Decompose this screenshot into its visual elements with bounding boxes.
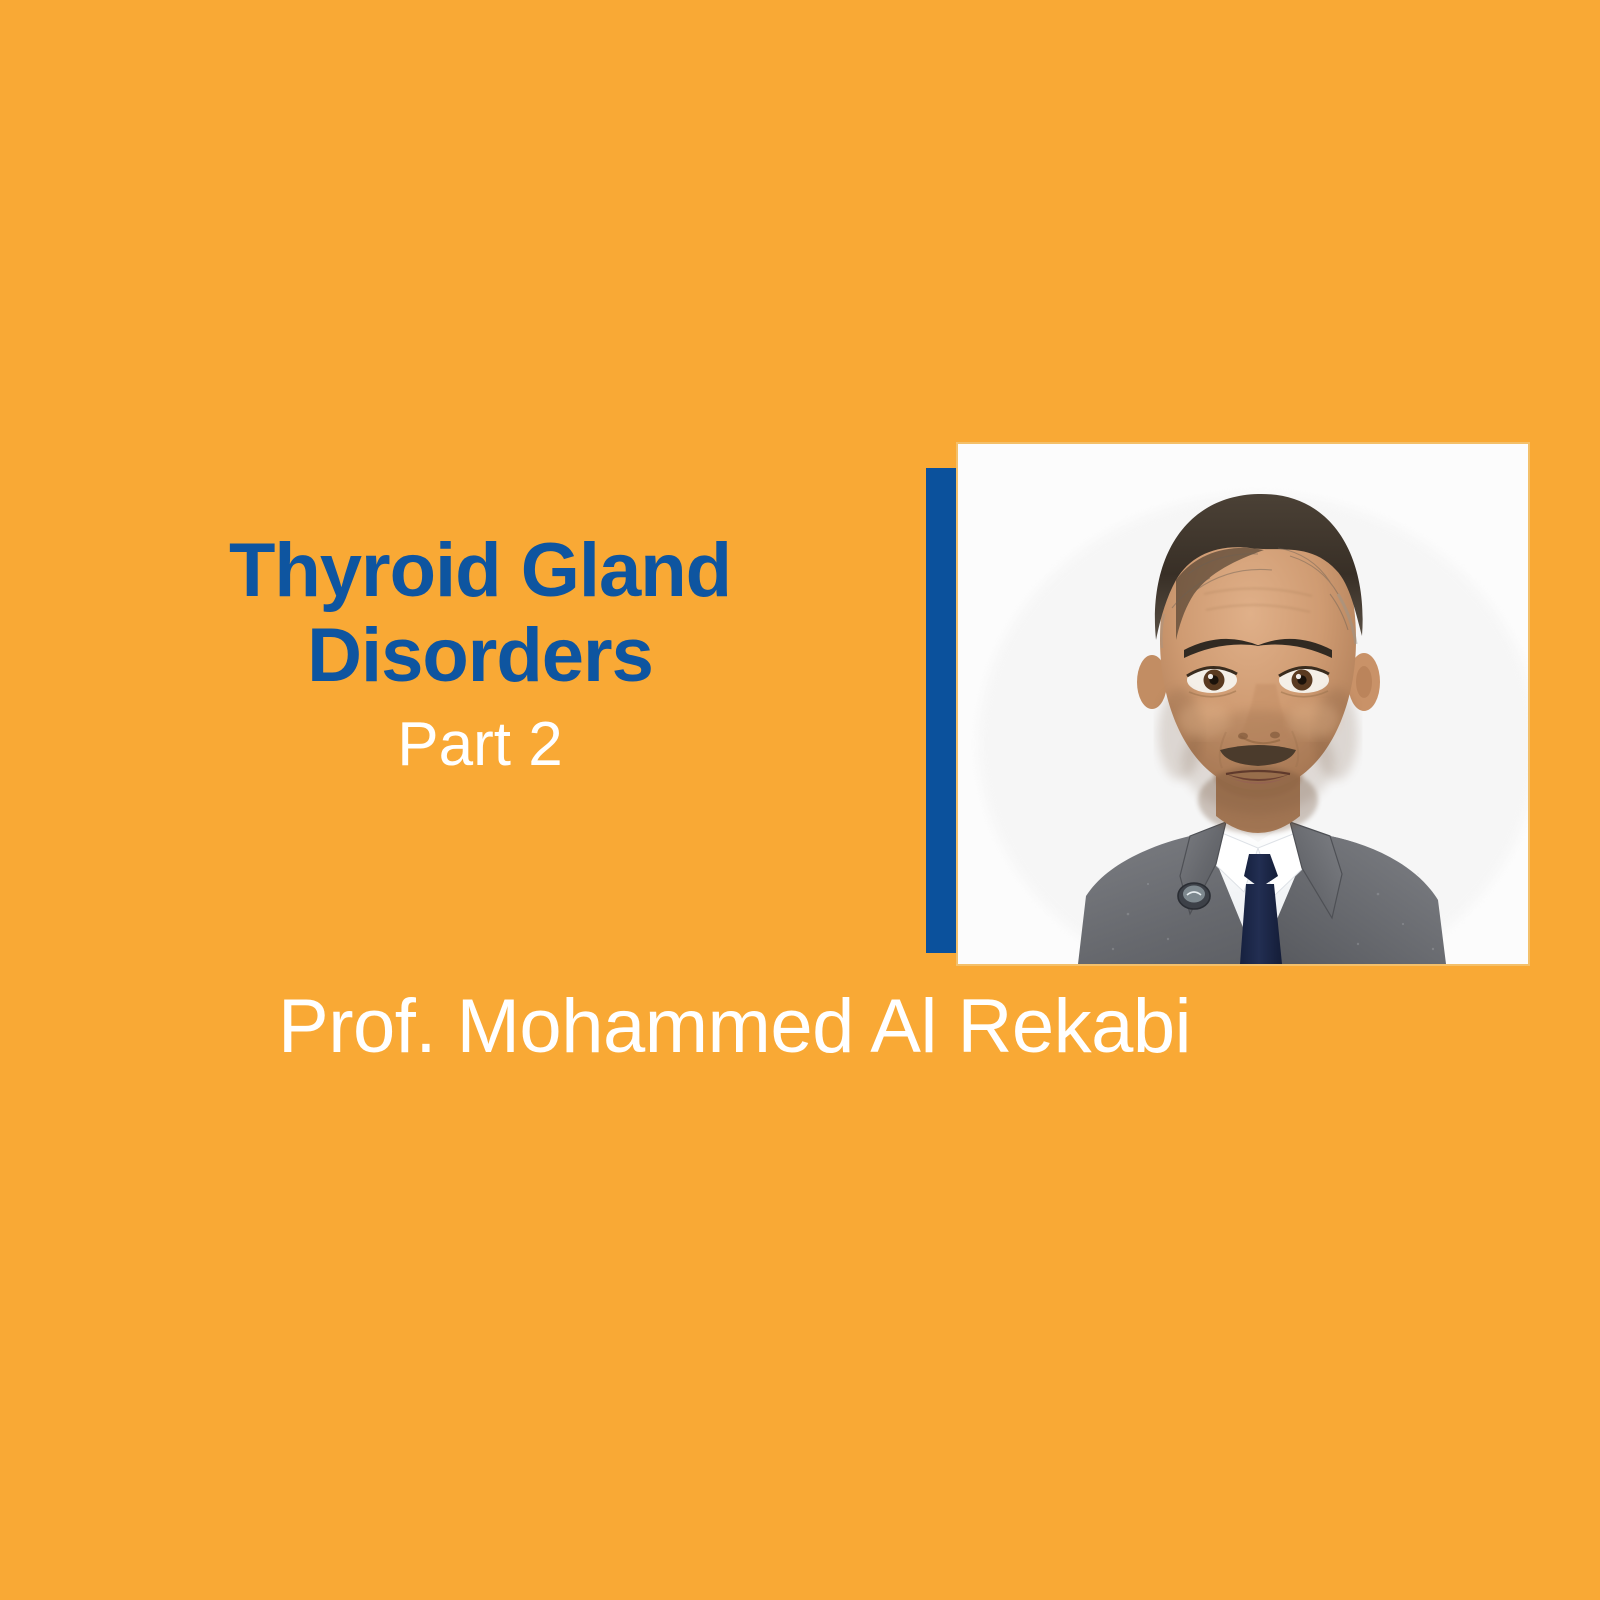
title-line-2: Disorders <box>120 613 840 698</box>
title-line-1: Thyroid Gland <box>120 528 840 613</box>
photo-accent-bar <box>926 468 959 953</box>
lapel-pin-icon <box>1178 883 1210 909</box>
presenter-name: Prof. Mohammed Al Rekabi <box>278 985 1191 1069</box>
portrait-image <box>958 444 1528 964</box>
title-part-label: Part 2 <box>120 708 840 781</box>
title-block: Thyroid Gland Disorders Part 2 <box>120 528 840 781</box>
presenter-photo <box>958 444 1528 964</box>
portrait-illustration <box>958 444 1528 964</box>
presentation-slide: Thyroid Gland Disorders Part 2 <box>0 0 1600 1600</box>
